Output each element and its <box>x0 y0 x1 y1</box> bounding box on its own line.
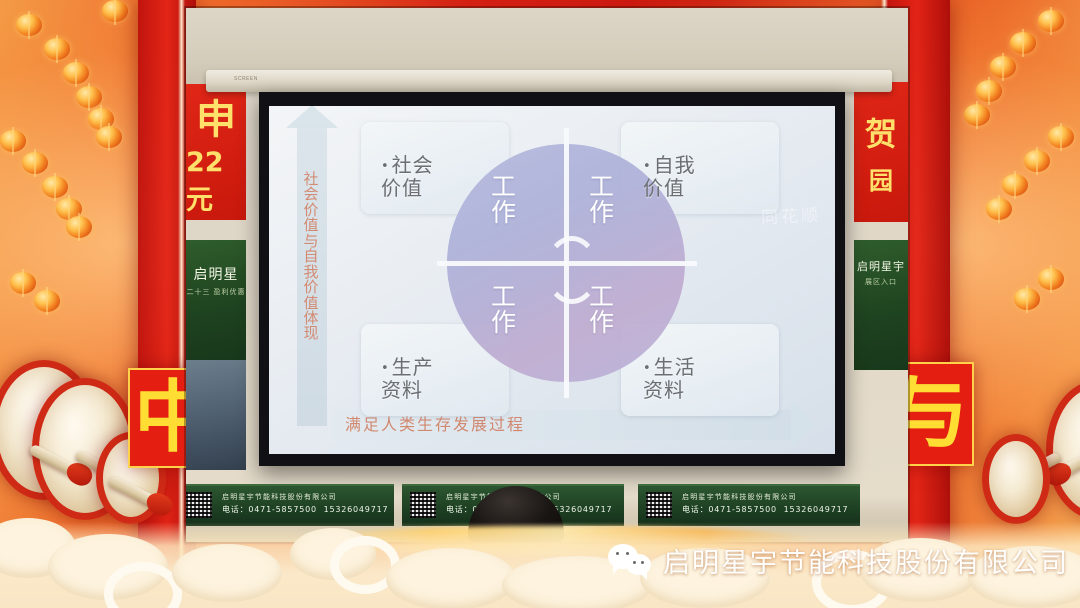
wechat-logo-icon <box>608 544 654 578</box>
bullet-dot-icon: • <box>643 361 652 376</box>
y-axis-label: 社会价值与自我价值体现 <box>300 172 322 342</box>
label-top-right: •自我 价值 <box>643 132 696 199</box>
table-banner-1: 启明星宇节能科技股份有限公司 电话：0471-5857500 153260497… <box>186 484 394 526</box>
banner-phone-3: 电话：0471-5857500 15326049717 <box>682 504 848 515</box>
bullet-dot-icon: • <box>381 159 390 174</box>
poster-left-green: 启明星 二十三 盈利优惠 <box>186 240 246 360</box>
projection-screen: 社会价值与自我价值体现 满足人类生存发展过程 工 作 <box>269 106 835 454</box>
projector-screen-roller: SCREEN <box>206 70 892 92</box>
conference-room-photo: 申 22元 启明星 二十三 盈利优惠 贺 园 启明星宇 展区入口 SCREEN <box>186 8 908 542</box>
wechat-account-name: 启明星宇节能科技股份有限公司 <box>663 541 1069 580</box>
poster-left-red: 申 22元 <box>186 84 246 220</box>
qr-code-icon <box>186 492 212 518</box>
label-bottom-right: •生活 资料 <box>643 334 696 401</box>
quadrant-word-bottom-left: 工 作 <box>491 284 517 337</box>
quadrant-word-top-left: 工 作 <box>491 174 517 227</box>
label-top-left: •社会 价值 <box>381 132 434 199</box>
projection-screen-frame: 社会价值与自我价值体现 满足人类生存发展过程 工 作 <box>259 92 845 466</box>
presentation-slide: 社会价值与自我价值体现 满足人类生存发展过程 工 作 <box>269 106 835 454</box>
poster-right-green: 启明星宇 展区入口 <box>854 240 908 370</box>
label-bottom-left: •生产 资料 <box>381 334 434 401</box>
roller-brand-label: SCREEN <box>234 76 258 82</box>
quadrant-word-top-right: 工 作 <box>589 174 615 227</box>
bullet-dot-icon: • <box>643 159 652 174</box>
screen-watermark: 同花顺 <box>760 200 821 228</box>
wechat-footer: 启明星宇节能科技股份有限公司 <box>608 541 1069 580</box>
banner-phone-1: 电话：0471-5857500 15326049717 <box>222 504 388 515</box>
screenshot-stage: 中 与 申 22元 启明星 二十三 盈利优惠 贺 园 启明星宇 展区入口 SCR… <box>0 0 1080 608</box>
poster-left-photo <box>186 360 246 470</box>
bullet-dot-icon: • <box>381 361 390 376</box>
curtain-seam-left <box>178 0 185 608</box>
banner-company-3: 启明星宇节能科技股份有限公司 <box>682 492 797 502</box>
banner-company-1: 启明星宇节能科技股份有限公司 <box>222 492 337 502</box>
poster-right-red: 贺 园 <box>854 82 908 222</box>
qr-code-icon <box>646 492 672 518</box>
quadrant-word-bottom-right: 工 作 <box>589 284 615 337</box>
qr-code-icon <box>410 492 436 518</box>
table-banner-3: 启明星宇节能科技股份有限公司 电话：0471-5857500 153260497… <box>638 484 860 526</box>
